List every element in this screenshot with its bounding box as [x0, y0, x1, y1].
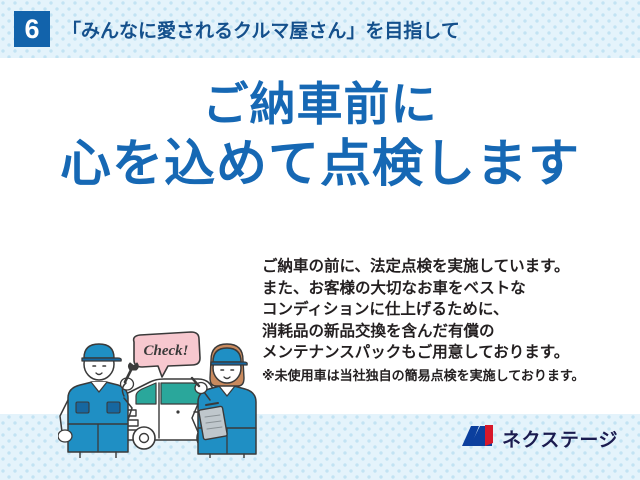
body-copy-note: ※未使用車は当社独自の簡易点検を実施しております。	[262, 366, 634, 386]
header-title: 「みんなに愛されるクルマ屋さん」を目指して	[62, 16, 460, 43]
headline-line-1: ご納車前に	[0, 80, 640, 130]
body-copy-line: コンディションに仕上げるために、	[262, 299, 634, 321]
header-bar: 6 「みんなに愛されるクルマ屋さん」を目指して	[0, 0, 640, 58]
content-panel: ご納車前に 心を込めて点検します ご納車の前に、法定点検を実施しています。 また…	[0, 58, 640, 414]
body-copy-line: また、お客様の大切なお車をベストな	[262, 278, 634, 300]
body-copy: ご納車の前に、法定点検を実施しています。 また、お客様の大切なお車をベストな コ…	[262, 256, 634, 386]
body-copy-line: ご納車の前に、法定点検を実施しています。	[262, 256, 634, 278]
footer-bar: ネクステージ	[0, 414, 640, 480]
body-copy-line: メンテナンスパックもご用意しております。	[262, 342, 634, 364]
page-title: ご納車前に 心を込めて点検します	[0, 80, 640, 191]
slide-root: 6 「みんなに愛されるクルマ屋さん」を目指して ご納車前に 心を込めて点検します…	[0, 0, 640, 480]
check-bubble-label: Check!	[144, 343, 189, 359]
nextage-n-mark-icon	[461, 424, 495, 453]
brand-name: ネクステージ	[502, 425, 618, 452]
body-copy-line: 消耗品の新品交換を含んだ有償の	[262, 321, 634, 343]
brand-logo: ネクステージ	[461, 424, 618, 453]
section-number-badge: 6	[14, 11, 50, 47]
headline-line-2: 心を込めて点検します	[0, 136, 640, 191]
